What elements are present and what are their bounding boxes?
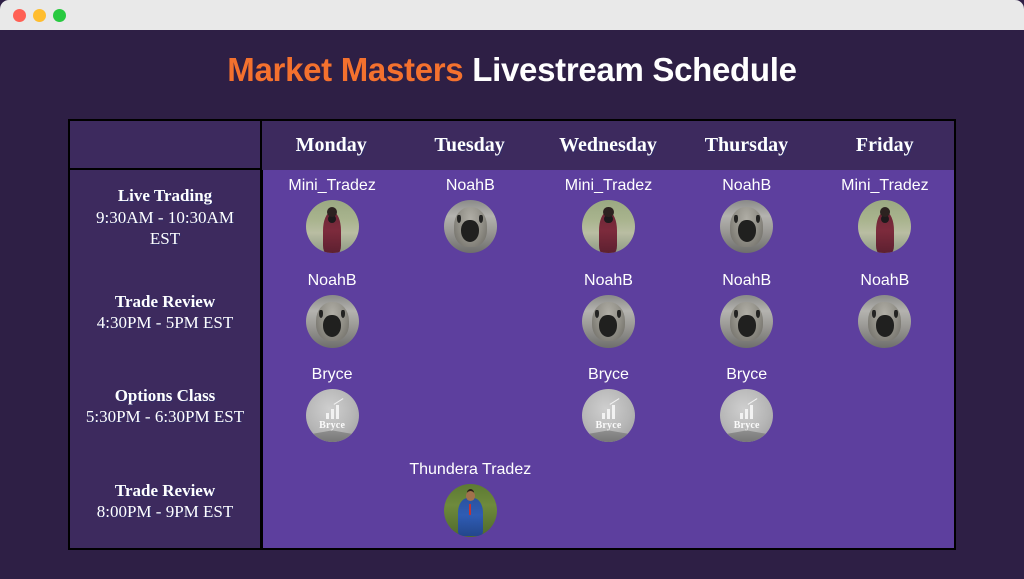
bryce-wordmark: Bryce [595,421,621,431]
page-content: Market Masters Livestream Schedule Monda… [0,30,1024,579]
bryce-avatar: Bryce [306,389,359,442]
time-slot-name: Live Trading [118,185,212,206]
time-slot-column: Live Trading 9:30AM - 10:30AM EST Trade … [70,170,262,548]
mini-tradez-avatar [306,200,359,253]
noahb-avatar [720,200,773,253]
slot-host-name: Mini_Tradez [841,177,928,195]
slot-host-name: Bryce [726,366,767,384]
day-header-row: Monday Tuesday Wednesday Thursday Friday [262,121,954,170]
time-slot-name: Options Class [115,385,216,406]
slot-host-name: NoahB [446,177,495,195]
mini-tradez-avatar [582,200,635,253]
time-slot-range: 8:00PM - 9PM EST [97,501,234,522]
time-slot-trade-review-evening: Trade Review 8:00PM - 9PM EST [70,454,260,549]
time-slot-range: 5:30PM - 6:30PM EST [86,406,244,427]
bryce-wordmark: Bryce [734,421,760,431]
schedule-row-options-class: Bryce Bryce Bryce [263,359,954,454]
noahb-avatar [306,295,359,348]
slot-host-name: Bryce [312,366,353,384]
time-slot-name: Trade Review [115,480,215,501]
slot-friday-trade-review-afternoon[interactable]: NoahB [816,265,954,360]
time-slot-name: Trade Review [115,291,215,312]
day-header-monday: Monday [262,134,400,157]
thundera-tradez-avatar [444,484,497,537]
bar-chart-icon [740,404,753,419]
slot-host-name: NoahB [722,177,771,195]
schedule-row-trade-review-afternoon: NoahB NoahB NoahB NoahB [263,265,954,360]
time-slot-live-trading: Live Trading 9:30AM - 10:30AM EST [70,170,260,265]
slot-host-name: NoahB [722,272,771,290]
mini-tradez-avatar [858,200,911,253]
maximize-window-button[interactable] [53,9,66,22]
slot-host-name: NoahB [860,272,909,290]
noahb-avatar [582,295,635,348]
slot-wednesday-trade-review-afternoon[interactable]: NoahB [539,265,677,360]
slot-thursday-trade-review-afternoon[interactable]: NoahB [678,265,816,360]
slot-friday-live-trading[interactable]: Mini_Tradez [816,170,954,265]
day-header-thursday: Thursday [677,134,815,157]
page-title: Market Masters Livestream Schedule [0,30,1024,88]
noahb-avatar [720,295,773,348]
necktie-detail [469,504,472,516]
bryce-avatar: Bryce [720,389,773,442]
time-slot-options-class: Options Class 5:30PM - 6:30PM EST [70,359,260,454]
slot-host-name: Mini_Tradez [565,177,652,195]
page-title-brand: Market Masters [227,51,463,88]
bryce-wordmark: Bryce [319,421,345,431]
slot-thursday-live-trading[interactable]: NoahB [678,170,816,265]
slot-wednesday-live-trading[interactable]: Mini_Tradez [539,170,677,265]
close-window-button[interactable] [13,9,26,22]
slot-tuesday-trade-review-evening[interactable]: Thundera Tradez [401,454,539,549]
noahb-avatar [444,200,497,253]
slot-host-name: Bryce [588,366,629,384]
slot-wednesday-options-class[interactable]: Bryce Bryce [539,359,677,454]
slot-monday-trade-review-afternoon[interactable]: NoahB [263,265,401,360]
slot-monday-options-class[interactable]: Bryce Bryce [263,359,401,454]
slot-host-name: NoahB [308,272,357,290]
traffic-lights [13,9,66,22]
bryce-logo-base [306,430,359,442]
bryce-logo-base [720,430,773,442]
time-slot-trade-review-afternoon: Trade Review 4:30PM - 5PM EST [70,265,260,360]
day-header-friday: Friday [816,134,954,157]
day-header-tuesday: Tuesday [400,134,538,157]
slot-host-name: Thundera Tradez [409,461,531,479]
window-title-bar [0,0,1024,30]
schedule-table: Monday Tuesday Wednesday Thursday Friday… [68,119,956,550]
bryce-logo-base [582,430,635,442]
bryce-avatar: Bryce [582,389,635,442]
time-slot-range: 9:30AM - 10:30AM EST [85,207,245,250]
day-header-wednesday: Wednesday [539,134,677,157]
slot-host-name: Mini_Tradez [288,177,375,195]
schedule-corner-cell [70,121,262,170]
minimize-window-button[interactable] [33,9,46,22]
slot-thursday-options-class[interactable]: Bryce Bryce [678,359,816,454]
schedule-row-live-trading: Mini_Tradez NoahB Mini_Tradez NoahB Mini… [263,170,954,265]
time-slot-range: 4:30PM - 5PM EST [97,312,234,333]
page-title-rest: Livestream Schedule [463,51,796,88]
noahb-avatar [858,295,911,348]
slot-tuesday-live-trading[interactable]: NoahB [401,170,539,265]
slot-host-name: NoahB [584,272,633,290]
bar-chart-icon [326,404,339,419]
slot-monday-live-trading[interactable]: Mini_Tradez [263,170,401,265]
schedule-row-trade-review-evening: Thundera Tradez [263,454,954,549]
bar-chart-icon [602,404,615,419]
schedule-grid-body: Mini_Tradez NoahB Mini_Tradez NoahB Mini… [262,170,954,548]
